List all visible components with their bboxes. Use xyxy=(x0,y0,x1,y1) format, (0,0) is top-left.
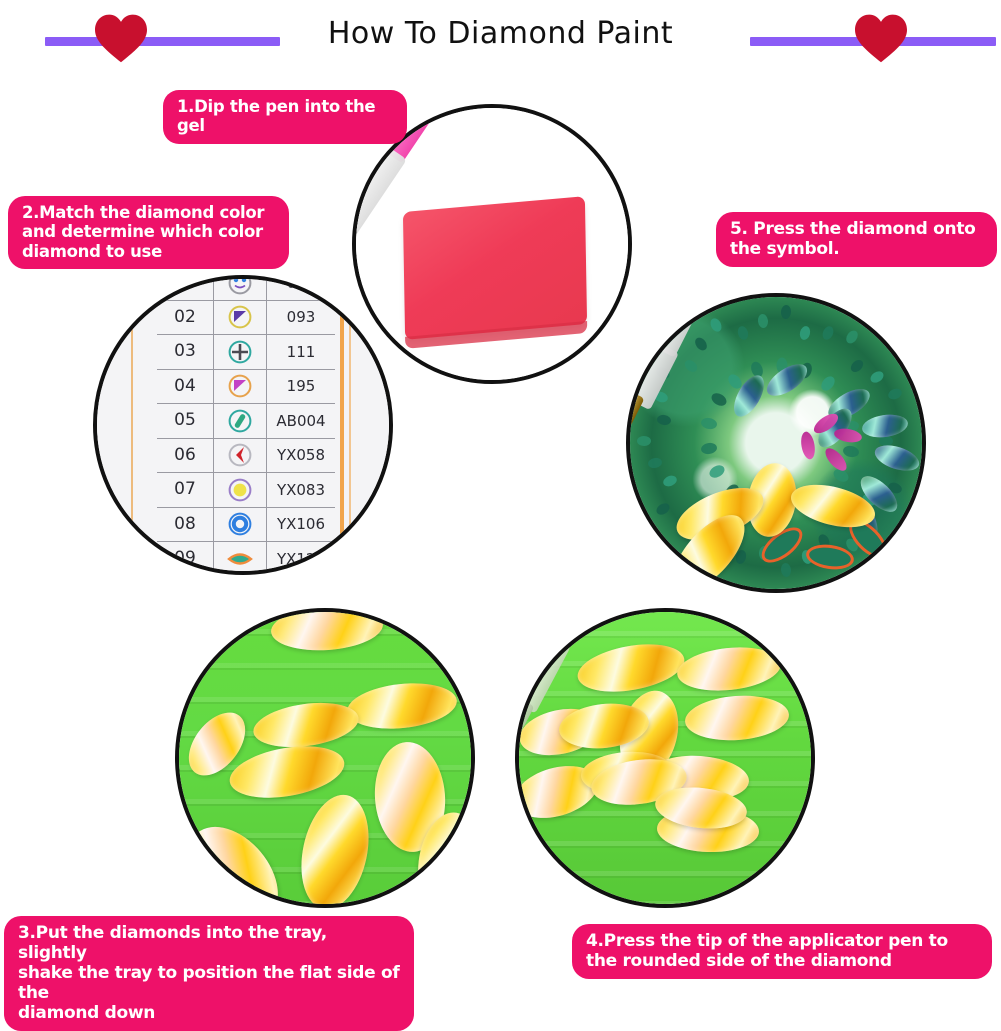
step-4-label: 4.Press the tip of the applicator pen to… xyxy=(572,924,992,979)
chart-number-cell: 03 xyxy=(157,335,214,369)
color-chart-row: 02093 xyxy=(157,301,335,336)
ring-circle-symbol xyxy=(214,508,267,542)
pen-dipping-into-gel-photo xyxy=(356,108,628,380)
chart-number-cell: 05 xyxy=(157,404,214,438)
color-chart-row: 03111 xyxy=(157,335,335,370)
chart-code-cell: YX058 xyxy=(267,446,335,464)
gel-pad-shape xyxy=(403,196,587,340)
plus-cross-symbol xyxy=(214,335,267,369)
yellow-diamonds-in-tray-photo xyxy=(179,612,471,904)
chart-code-cell: 111 xyxy=(267,343,335,361)
color-symbol-chart-photo: 0102002093031110419505AB00406YX05807YX08… xyxy=(97,279,389,571)
step-1-photo-circle xyxy=(352,104,632,384)
smiley-circle-symbol xyxy=(214,275,267,300)
chart-number-cell: 04 xyxy=(157,370,214,404)
triangle-flag-symbol xyxy=(214,370,267,404)
color-chart-row: 06YX058 xyxy=(157,439,335,474)
infographic-root: How To Diamond Paint 0102002093031110419… xyxy=(0,0,1001,1001)
color-chart-row: 04195 xyxy=(157,370,335,405)
color-chart-row: 07YX083 xyxy=(157,473,335,508)
chart-code-cell: 195 xyxy=(267,377,335,395)
chart-code-cell: YX083 xyxy=(267,481,335,499)
step-1-label: 1.Dip the pen into the gel xyxy=(163,90,407,144)
triangle-flag-symbol xyxy=(214,301,267,335)
header: How To Diamond Paint xyxy=(0,0,1001,72)
step-3-photo-circle xyxy=(175,608,475,908)
chart-code-cell: 020 xyxy=(267,275,335,292)
chart-code-cell: YX125 xyxy=(267,550,335,568)
placing-diamond-on-canvas-photo xyxy=(630,297,922,589)
step-2-label: 2.Match the diamond color and determine … xyxy=(8,196,289,269)
chart-number-cell: 09 xyxy=(157,542,214,575)
color-chart-row: 05AB004 xyxy=(157,404,335,439)
pen-picking-up-diamond-photo xyxy=(519,612,811,904)
chart-code-cell: YX106 xyxy=(267,515,335,533)
chart-code-cell: 093 xyxy=(267,308,335,326)
step-2-photo-circle: 0102002093031110419505AB00406YX05807YX08… xyxy=(93,275,393,575)
chart-code-cell: AB004 xyxy=(267,412,335,430)
step-5-label: 5. Press the diamond onto the symbol. xyxy=(716,212,997,267)
chart-number-cell: 06 xyxy=(157,439,214,473)
slash-bar-symbol xyxy=(214,404,267,438)
chart-number-cell: 08 xyxy=(157,508,214,542)
chart-number-cell: 01 xyxy=(157,275,214,300)
leaf-marquise-symbol xyxy=(214,542,267,575)
left-arrow-symbol xyxy=(214,439,267,473)
color-chart-row: 08YX106 xyxy=(157,508,335,543)
color-chart-row: 01020 xyxy=(157,275,335,301)
step-4-photo-circle xyxy=(515,608,815,908)
page-title: How To Diamond Paint xyxy=(0,16,1001,51)
color-chart-row: 09YX125 xyxy=(157,542,335,575)
chart-number-cell: 07 xyxy=(157,473,214,507)
step-3-label: 3.Put the diamonds into the tray, slight… xyxy=(4,916,414,1031)
step-5-photo-circle xyxy=(626,293,926,593)
color-chart-table: 0102002093031110419505AB00406YX05807YX08… xyxy=(157,275,335,575)
filled-dot-symbol xyxy=(214,473,267,507)
chart-number-cell: 02 xyxy=(157,301,214,335)
